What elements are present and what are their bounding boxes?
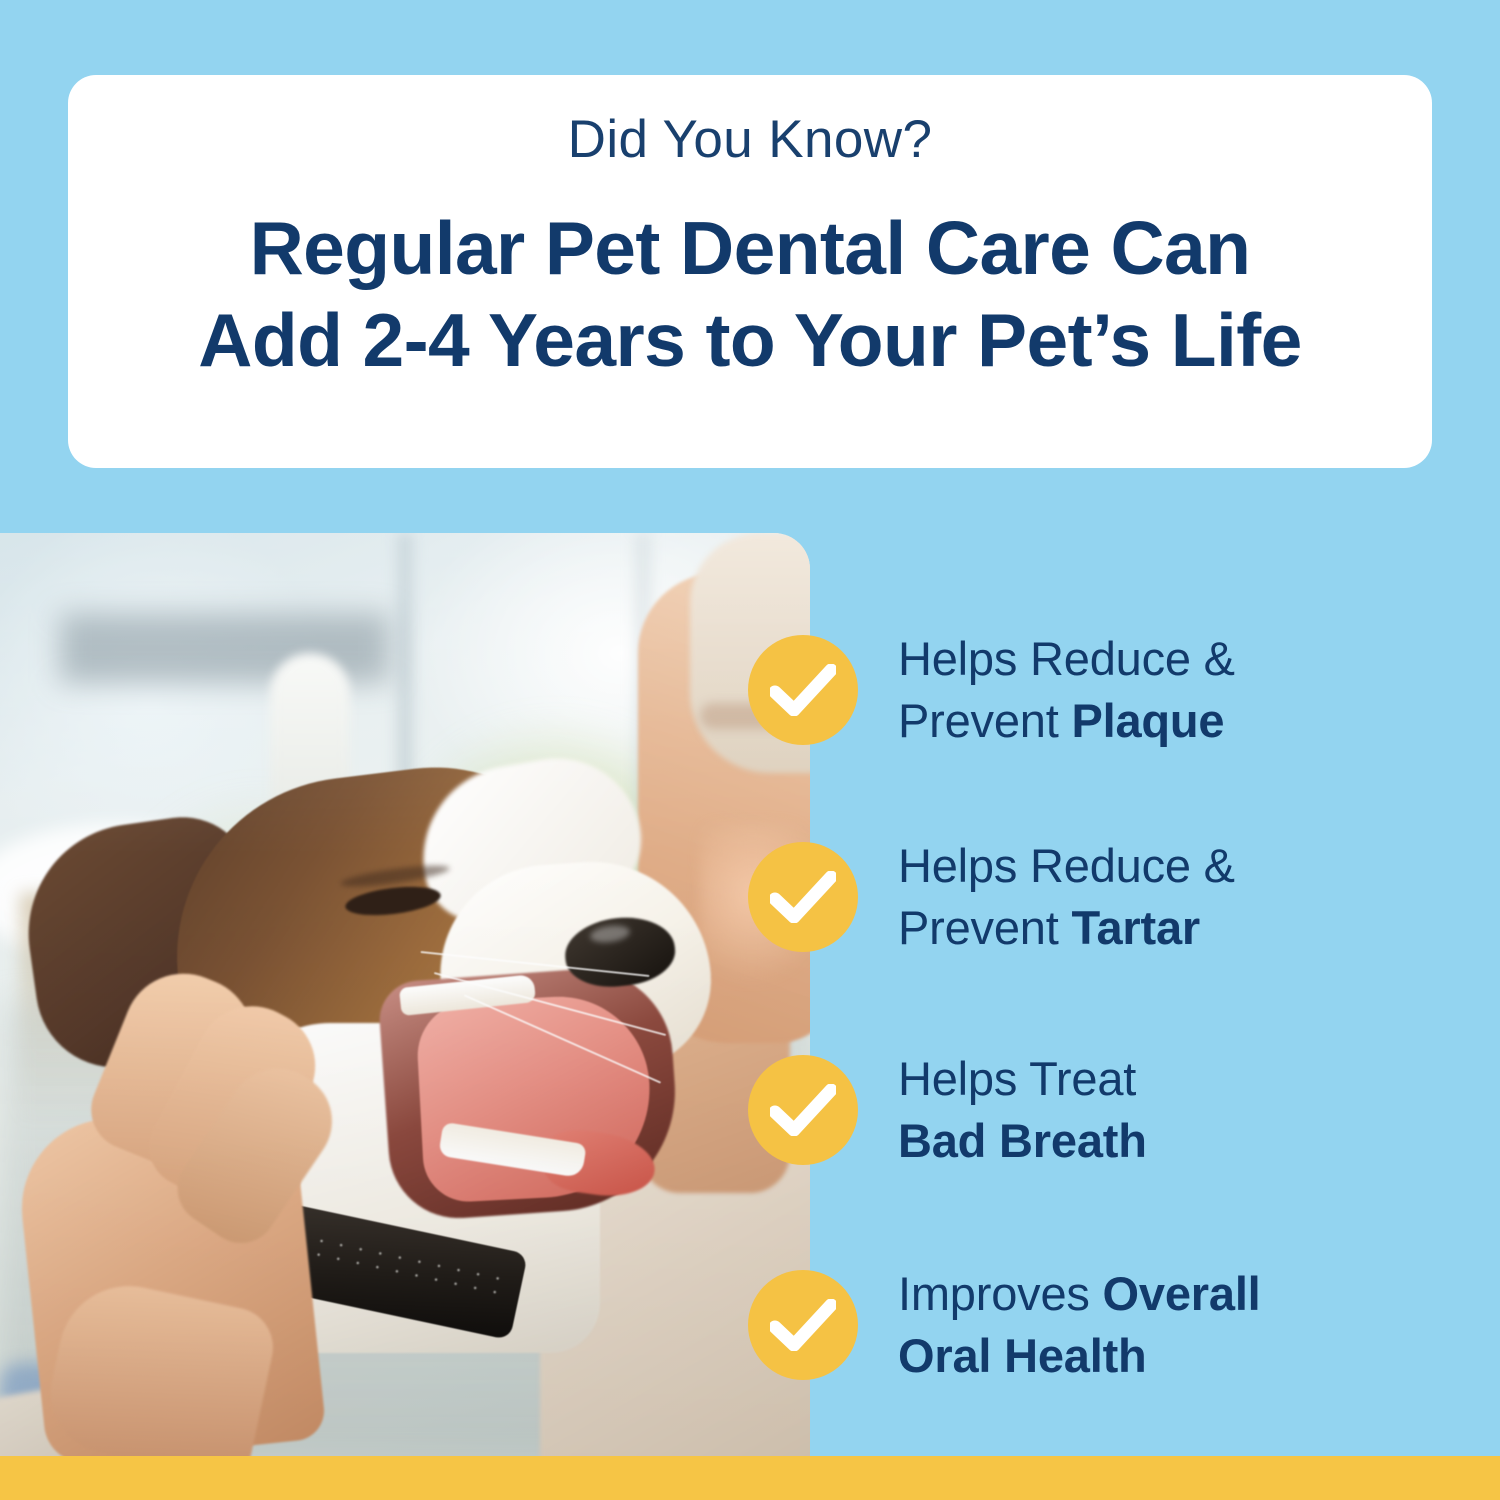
benefit-line-1: Improves Overall xyxy=(898,1263,1261,1325)
list-item: Helps Reduce & Prevent Plaque xyxy=(748,628,1448,752)
benefit-keyword: Tartar xyxy=(1071,901,1200,954)
infographic-canvas: Did You Know? Regular Pet Dental Care Ca… xyxy=(0,0,1500,1500)
benefit-text: Helps Reduce & Prevent Plaque xyxy=(898,628,1235,752)
benefit-keyword: Oral Health xyxy=(898,1329,1147,1382)
checkmark-icon xyxy=(748,842,858,952)
benefit-keyword: Plaque xyxy=(1071,694,1224,747)
benefit-line-2: Oral Health xyxy=(898,1325,1261,1387)
list-item: Helps Reduce & Prevent Tartar xyxy=(748,835,1448,959)
checkmark-icon xyxy=(748,635,858,745)
benefit-line-1: Helps Reduce & xyxy=(898,628,1235,690)
benefit-line-2: Bad Breath xyxy=(898,1110,1147,1172)
checkmark-icon xyxy=(748,1270,858,1380)
benefit-text: Helps Reduce & Prevent Tartar xyxy=(898,835,1235,959)
benefit-line-1: Helps Treat xyxy=(898,1048,1147,1110)
eyebrow-text: Did You Know? xyxy=(568,111,933,169)
headline-line-2: Add 2-4 Years to Your Pet’s Life xyxy=(68,295,1432,387)
benefit-text: Helps Treat Bad Breath xyxy=(898,1048,1147,1172)
list-item: Helps Treat Bad Breath xyxy=(748,1048,1448,1172)
bottom-accent-bar xyxy=(0,1456,1500,1500)
page-title: Regular Pet Dental Care Can Add 2-4 Year… xyxy=(68,203,1432,386)
benefit-keyword: Bad Breath xyxy=(898,1114,1147,1167)
headline-line-1: Regular Pet Dental Care Can xyxy=(68,203,1432,295)
list-item: Improves Overall Oral Health xyxy=(748,1263,1448,1387)
checkmark-icon xyxy=(748,1055,858,1165)
header-card: Did You Know? Regular Pet Dental Care Ca… xyxy=(68,75,1432,468)
benefit-line-1: Helps Reduce & xyxy=(898,835,1235,897)
benefits-list: Helps Reduce & Prevent Plaque Helps Redu… xyxy=(0,533,1500,1456)
benefit-text: Improves Overall Oral Health xyxy=(898,1263,1261,1387)
benefit-keyword: Overall xyxy=(1103,1267,1261,1320)
benefit-line-2: Prevent Tartar xyxy=(898,897,1235,959)
benefit-line-2: Prevent Plaque xyxy=(898,690,1235,752)
